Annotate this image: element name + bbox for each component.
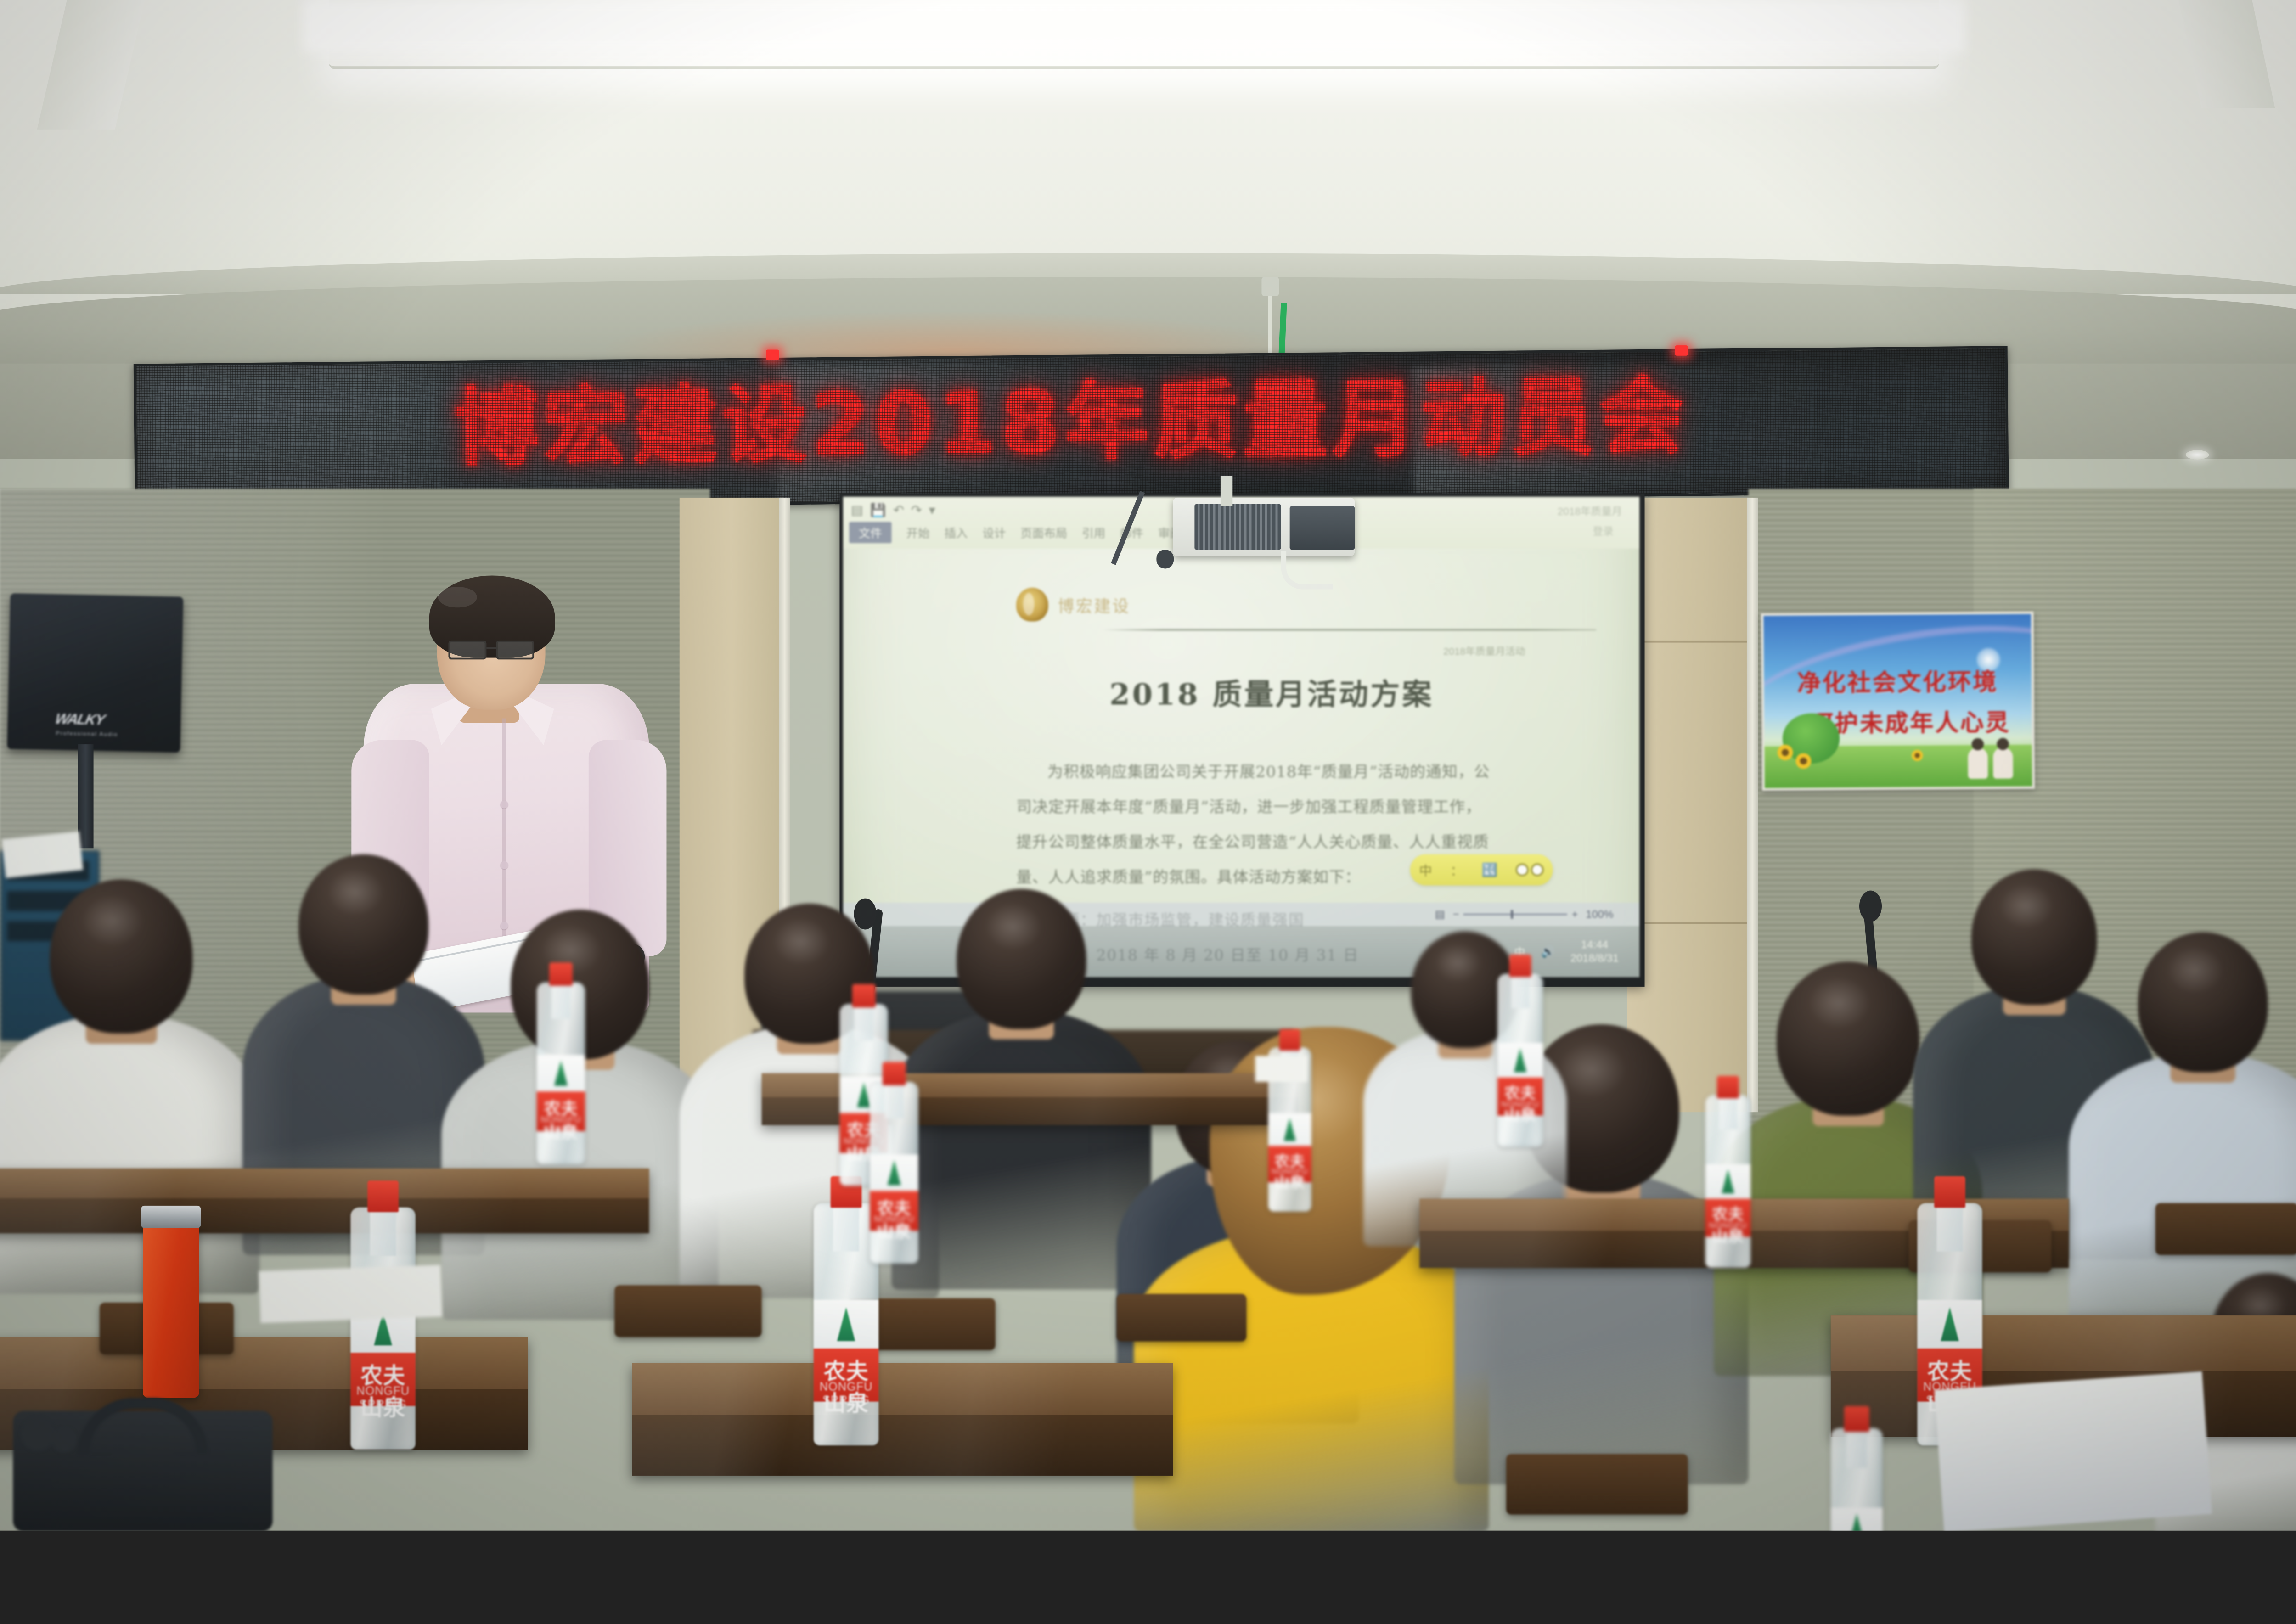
- microphone-head-icon: [1859, 891, 1882, 922]
- water-bottle: 农夫山泉NONGFU SPRING: [1705, 1095, 1750, 1268]
- ceiling-skylight-glow: [303, 0, 1965, 52]
- presenter-shirt-button: [501, 922, 508, 930]
- water-bottle: 农夫山泉NONGFU SPRING: [1831, 1428, 1883, 1530]
- bottle-brand-label-en: NONGFU SPRING: [814, 1380, 878, 1406]
- ceiling-hook-icon: [1261, 277, 1279, 296]
- bottle-cap: [1934, 1176, 1965, 1208]
- view-mode-icon[interactable]: ▤: [1435, 908, 1445, 921]
- bottle-cap: [367, 1181, 399, 1213]
- table-row-3: [0, 1169, 649, 1233]
- tab-references[interactable]: 引用: [1082, 524, 1105, 541]
- bottle-cap: [1509, 955, 1531, 977]
- tab-insert[interactable]: 插入: [945, 524, 968, 541]
- poster-line-1: 净化社会文化环境: [1764, 663, 2032, 699]
- audience-hair-highlight: [327, 868, 384, 916]
- bottle-brand-label-en: NONGFU SPRING: [1268, 1167, 1311, 1186]
- audience-head: [957, 889, 1086, 1029]
- company-logo-text: 博宏建设: [1058, 593, 1130, 617]
- clock-time: 14:44: [1581, 938, 1608, 950]
- screen-signin-label[interactable]: 登录: [1593, 523, 1613, 538]
- tab-page-layout[interactable]: 页面布局: [1020, 524, 1067, 541]
- poster-child-icon: [1968, 747, 1988, 779]
- bottle-cap: [1844, 1406, 1869, 1432]
- presenter-shirt-button: [501, 861, 508, 869]
- bottle-brand-label-en: NONGFU SPRING: [870, 1214, 918, 1234]
- ime-mode-label[interactable]: 中: [1419, 860, 1432, 879]
- water-bottle: 农夫山泉NONGFU SPRING: [537, 982, 585, 1164]
- keys-icon: [13, 1415, 95, 1463]
- bottle-neck: [854, 1004, 873, 1040]
- tab-design[interactable]: 设计: [982, 524, 1006, 541]
- ribbon-tabs[interactable]: 文件 开始 插入 设计 页面布局 引用 邮件 审阅 视图: [849, 522, 1220, 543]
- ime-toolbar[interactable]: 中 ： 🔣: [1410, 854, 1553, 886]
- zoom-slider[interactable]: − +: [1453, 908, 1578, 921]
- bottle-brand-label-en: NONGFU SPRING: [350, 1384, 415, 1411]
- projector-mount-arm: [1221, 476, 1232, 506]
- audience-torso: [0, 1013, 260, 1294]
- led-indicator-light: [766, 350, 779, 360]
- bottle-neck: [1511, 974, 1530, 1008]
- bottle-neck: [833, 1203, 859, 1252]
- chair[interactable]: [614, 1285, 761, 1337]
- speaker-stand: [78, 744, 94, 848]
- chair[interactable]: [1506, 1454, 1688, 1515]
- speaker-brand-subtitle: Professional Audio: [56, 730, 118, 737]
- document-paragraph: 为积极响应集团公司关于开展2018年“质量月”活动的通知，公: [1016, 755, 1527, 790]
- desk-paper-sheet: [1255, 1056, 1307, 1082]
- led-indicator-light: [1675, 345, 1688, 356]
- chair[interactable]: [2155, 1203, 2296, 1255]
- ime-symbol-icon[interactable]: 🔣: [1481, 862, 1497, 877]
- projector-power-cable: [1281, 551, 1333, 590]
- bottle-neck: [1846, 1428, 1867, 1468]
- glasses-icon: [448, 641, 539, 660]
- audience-hair-highlight: [773, 918, 830, 966]
- audience-hair-highlight: [81, 894, 144, 947]
- person-white-tshirt-left: [0, 905, 260, 1294]
- bottle-neck: [884, 1082, 904, 1118]
- poster-sunflower-icon: [1778, 745, 1793, 760]
- chair[interactable]: [1117, 1294, 1247, 1342]
- bottle-brand-label-en: NONGFU SPRING: [1497, 1100, 1543, 1119]
- bottle-cap: [883, 1062, 906, 1085]
- poster-sunflower-icon: [1795, 753, 1811, 769]
- speaker-brand-label: WALKY: [53, 711, 106, 729]
- zoom-out-icon[interactable]: −: [1453, 908, 1459, 921]
- clock-date: 2018/8/31: [1570, 952, 1619, 964]
- led-scrolling-banner: 博宏建设2018年质量月动员会: [134, 346, 2009, 511]
- quick-access-toolbar[interactable]: ▤ 💾 ↶ ↷ ▾: [851, 503, 935, 518]
- chevron-down-icon[interactable]: ▾: [929, 503, 935, 518]
- desk-paper-sheet: [259, 1265, 443, 1323]
- bottle-neck: [1719, 1095, 1737, 1129]
- audience-hair-highlight: [985, 903, 1042, 950]
- table-row-front-mid: [632, 1363, 1173, 1476]
- conference-room-scene: 博宏建设2018年质量月动员会 ▤ 💾 ↶ ↷ ▾ 文件 开始 插入 设计 页面…: [0, 0, 2296, 1531]
- bottle-brand-label-en: NONGFU SPRING: [537, 1115, 585, 1135]
- bottle-cap: [549, 962, 573, 986]
- projector-vent-grille-icon: [1194, 504, 1281, 550]
- document-header: 博宏建设: [1016, 588, 1527, 622]
- poster-child-icon: [1993, 747, 2013, 779]
- undo-icon[interactable]: ↶: [893, 503, 904, 518]
- document-header-rule: [1103, 629, 1596, 630]
- ime-logo-icon[interactable]: [1516, 863, 1544, 876]
- tab-home[interactable]: 开始: [906, 524, 930, 541]
- projector-ceiling-mic-head-icon: [1156, 550, 1174, 568]
- audience-head: [1777, 961, 1919, 1116]
- document-icon[interactable]: ▤: [851, 503, 863, 518]
- bottle-neck: [370, 1208, 396, 1256]
- audience-head: [298, 854, 428, 995]
- bottle-cap: [1717, 1076, 1739, 1098]
- wall-speaker-box: WALKY Professional Audio: [7, 593, 183, 753]
- wall-poster: 净化社会文化环境 呵护未成年人心灵: [1761, 612, 2035, 791]
- tab-file[interactable]: 文件: [849, 522, 891, 543]
- audience-hair-highlight: [1558, 1041, 1626, 1099]
- save-icon[interactable]: 💾: [870, 503, 886, 518]
- led-banner-text: 博宏建设2018年质量月动员会: [136, 371, 2006, 474]
- ime-punct-icon[interactable]: ：: [1450, 860, 1463, 879]
- audience-hair-highlight: [2167, 946, 2223, 994]
- audience-hair-highlight: [1808, 977, 1871, 1029]
- zoom-in-icon[interactable]: +: [1572, 908, 1578, 921]
- water-bottle: 农夫山泉NONGFU SPRING: [350, 1208, 415, 1450]
- thermos-lid: [141, 1206, 201, 1228]
- audience-head: [2138, 932, 2268, 1072]
- bottle-cap: [852, 984, 876, 1007]
- presenter-shirt-button: [501, 801, 508, 809]
- bottle-neck: [551, 982, 570, 1018]
- audience-hair-highlight: [1999, 883, 2054, 929]
- company-logo-icon: [1016, 588, 1048, 622]
- document-header-label: 2018年质量月活动: [1443, 643, 1525, 658]
- water-bottle: 农夫山泉NONGFU SPRING: [1497, 974, 1543, 1147]
- document-paragraph: 司决定开展本年度“质量月”活动，进一步加强工程质量管理工作，: [1016, 790, 1527, 825]
- document-title: 2018 质量月活动方案: [1016, 670, 1527, 713]
- bottle-cap: [1279, 1029, 1300, 1051]
- water-bottle: 农夫山泉NONGFU SPRING: [814, 1203, 878, 1445]
- taskbar-clock[interactable]: 14:44 2018/8/31: [1570, 938, 1619, 965]
- thermos-flask: [143, 1225, 199, 1398]
- water-bottle: 农夫山泉NONGFU SPRING: [870, 1082, 918, 1264]
- audience-head: [50, 879, 192, 1034]
- downlight-icon: [2186, 450, 2209, 460]
- desk-paper-sheet: [1934, 1371, 2212, 1531]
- projector-port-panel: [1290, 506, 1355, 550]
- audience-torso: [892, 1009, 1152, 1290]
- bottle-neck: [1937, 1203, 1963, 1252]
- redo-icon[interactable]: ↷: [911, 503, 922, 518]
- bottle-brand-label-en: NONGFU SPRING: [1705, 1221, 1750, 1240]
- audience-hair-highlight: [1435, 943, 1482, 983]
- zoom-level-label: 100%: [1586, 908, 1613, 921]
- poster-sunflower-icon: [1912, 750, 1923, 761]
- equipment-paper-sheet: [2, 831, 84, 878]
- screen-top-right-label: 2018年质量月: [1558, 503, 1622, 518]
